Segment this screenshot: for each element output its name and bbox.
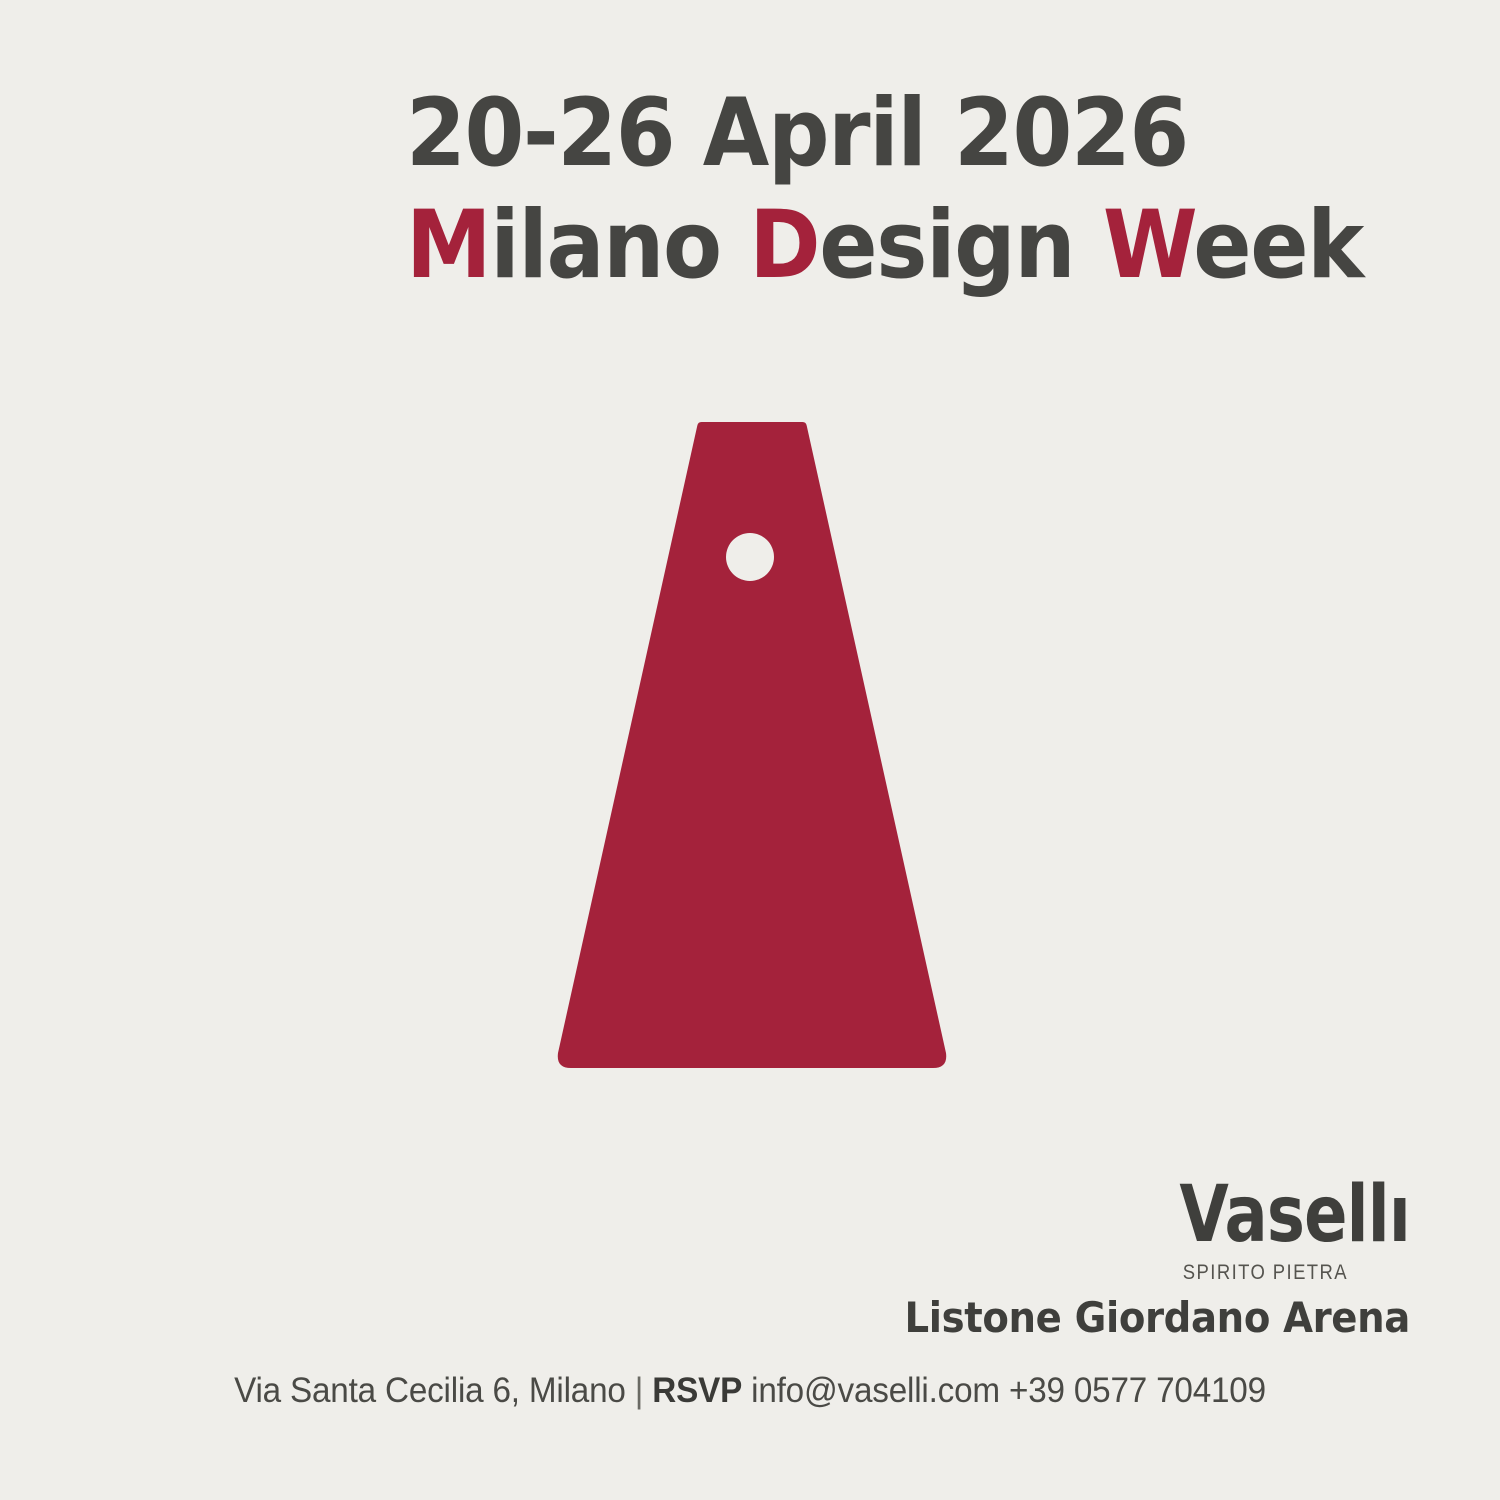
headline-initial-d: D bbox=[749, 191, 819, 300]
brand-tagline: SPIRITO PIETRA bbox=[787, 1258, 1348, 1288]
vaselli-stone-mark bbox=[540, 410, 964, 1085]
headline-date-line: 20-26 April 2026 bbox=[406, 78, 1047, 190]
headline-word-design: esign bbox=[819, 191, 1103, 300]
vaselli-wordmark: Vasellı bbox=[836, 1178, 1410, 1252]
trapezoid-shape bbox=[558, 422, 946, 1068]
brand-block: Vasellı SPIRITO PIETRA bbox=[710, 1178, 1410, 1288]
contact-separator: | bbox=[635, 1371, 643, 1410]
rsvp-phone[interactable]: +39 0577 704109 bbox=[1009, 1371, 1266, 1410]
rsvp-label: RSVP bbox=[652, 1371, 742, 1410]
headline-word-milano: ilano bbox=[490, 191, 749, 300]
poster-canvas: 20-26 April 2026 Milano Design Week Vase… bbox=[0, 0, 1500, 1500]
headline-event-line: Milano Design Week bbox=[406, 190, 1047, 302]
contact-line: Via Santa Cecilia 6, Milano | RSVP info@… bbox=[38, 1368, 1463, 1414]
venue-name: Listone Giordano Arena bbox=[582, 1292, 1410, 1344]
headline-initial-m: M bbox=[406, 191, 490, 300]
headline-block: 20-26 April 2026 Milano Design Week bbox=[406, 78, 1106, 302]
headline-word-week: eek bbox=[1193, 191, 1363, 300]
venue-address: Via Santa Cecilia 6, Milano bbox=[234, 1371, 626, 1410]
headline-initial-w: W bbox=[1103, 191, 1193, 300]
rsvp-email[interactable]: info@vaselli.com bbox=[751, 1371, 1000, 1410]
